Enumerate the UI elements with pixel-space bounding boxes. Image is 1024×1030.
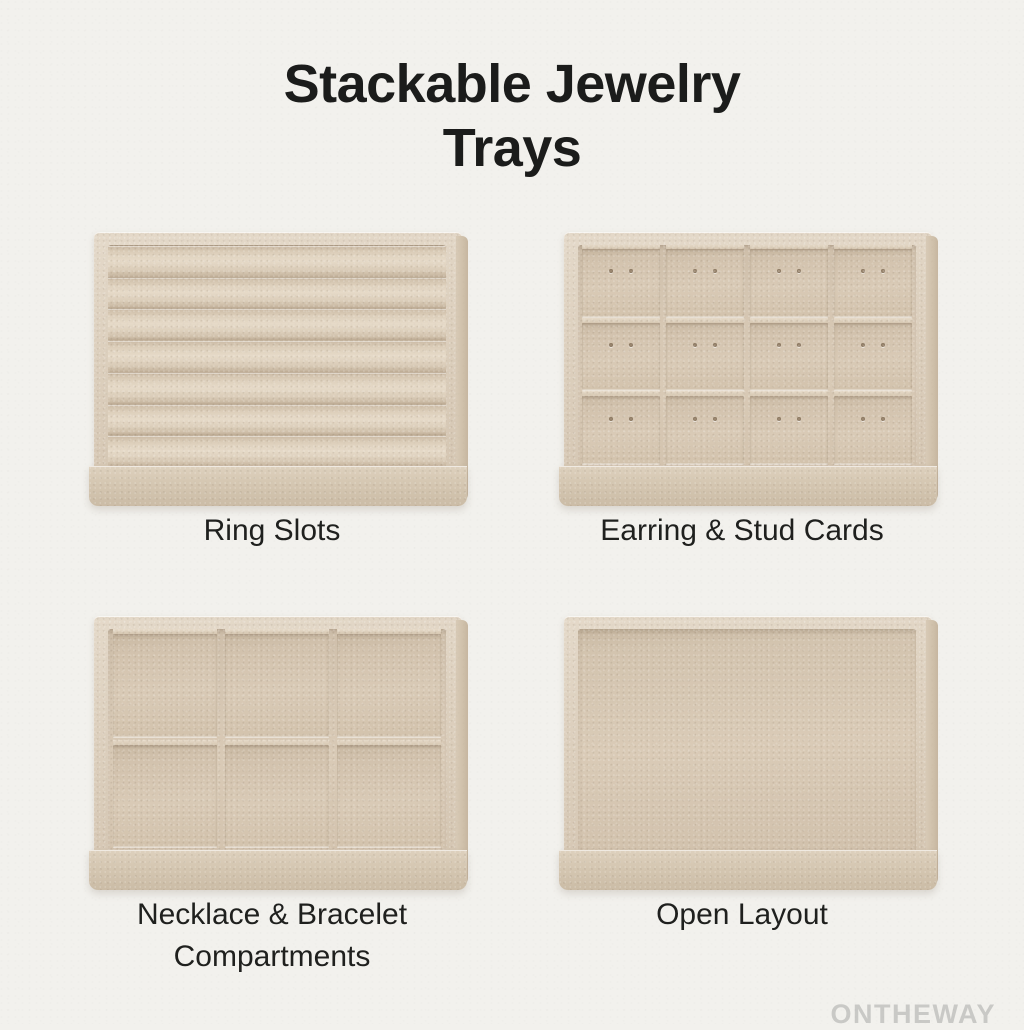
- stud-hole-pair: [834, 269, 912, 273]
- stud-hole: [797, 269, 801, 273]
- stud-hole-pair: [750, 343, 828, 347]
- earring-cell[interactable]: [750, 323, 828, 391]
- stud-hole: [609, 343, 613, 347]
- stud-hole-pair: [834, 343, 912, 347]
- tray-necklace-bracelet-compartments[interactable]: [94, 616, 462, 868]
- stud-hole: [693, 417, 697, 421]
- tray-rim: [564, 232, 932, 484]
- stud-hole: [629, 417, 633, 421]
- ring-roll-slot[interactable]: [108, 373, 446, 404]
- stud-hole: [713, 417, 717, 421]
- open-tray-floor[interactable]: [578, 629, 916, 852]
- ring-roll-slot[interactable]: [108, 436, 446, 467]
- tray-right-wall: [456, 236, 468, 502]
- tray-ring-slots[interactable]: [94, 232, 462, 484]
- compartment-cell[interactable]: [113, 634, 217, 737]
- earring-cell[interactable]: [834, 249, 912, 317]
- stud-hole: [629, 269, 633, 273]
- stud-hole: [777, 417, 781, 421]
- compartment-cell[interactable]: [225, 634, 329, 737]
- compartment-cell[interactable]: [337, 745, 441, 848]
- earring-cell[interactable]: [666, 323, 744, 391]
- tray-right-wall: [456, 620, 468, 886]
- tray-rim: [94, 616, 462, 868]
- earring-cell-grid: [578, 245, 916, 468]
- tray-front-wall: [559, 466, 937, 506]
- stud-hole: [609, 417, 613, 421]
- tray-right-wall: [926, 236, 938, 502]
- stud-hole: [713, 343, 717, 347]
- stud-hole-pair: [582, 343, 660, 347]
- compartment-cell[interactable]: [113, 745, 217, 848]
- caption-line: Compartments: [52, 936, 492, 978]
- stud-hole-pair: [582, 269, 660, 273]
- earring-cell[interactable]: [582, 323, 660, 391]
- ring-roll-slot[interactable]: [108, 246, 446, 277]
- stud-hole: [881, 417, 885, 421]
- ring-roll-slot[interactable]: [108, 309, 446, 340]
- ring-roll-slot[interactable]: [108, 405, 446, 436]
- stud-hole: [797, 343, 801, 347]
- stud-hole: [609, 269, 613, 273]
- tray-interior: [578, 245, 916, 468]
- ring-roll-slot[interactable]: [108, 278, 446, 309]
- stud-hole: [777, 343, 781, 347]
- tray-caption-earring-stud-cards: Earring & Stud Cards: [522, 510, 962, 552]
- caption-line: Necklace & Bracelet: [52, 894, 492, 936]
- caption-line: Ring Slots: [52, 510, 492, 552]
- stud-hole: [881, 343, 885, 347]
- stud-hole-pair: [750, 417, 828, 421]
- stud-hole: [861, 269, 865, 273]
- caption-line: Open Layout: [522, 894, 962, 936]
- stud-hole: [881, 269, 885, 273]
- stud-hole-pair: [834, 417, 912, 421]
- stud-hole-pair: [666, 343, 744, 347]
- tray-front-wall: [559, 850, 937, 890]
- stud-hole-pair: [666, 269, 744, 273]
- compartment-grid: [108, 629, 446, 852]
- ring-roll-slot[interactable]: [108, 341, 446, 372]
- earring-cell[interactable]: [750, 396, 828, 464]
- earring-cell[interactable]: [666, 249, 744, 317]
- stud-hole: [693, 343, 697, 347]
- stud-hole-pair: [666, 417, 744, 421]
- stud-hole: [713, 269, 717, 273]
- tray-card-ring-slots[interactable]: Ring Slots: [52, 218, 492, 508]
- stud-hole: [861, 343, 865, 347]
- tray-stage: [52, 602, 492, 892]
- tray-stage: [522, 602, 962, 892]
- stud-hole: [629, 343, 633, 347]
- tray-stage: [52, 218, 492, 508]
- page-title-line-1: Stackable Jewelry: [0, 52, 1024, 116]
- compartment-cell[interactable]: [225, 745, 329, 848]
- tray-interior: [108, 245, 446, 468]
- tray-front-wall: [89, 850, 467, 890]
- stud-hole: [797, 417, 801, 421]
- earring-cell[interactable]: [582, 249, 660, 317]
- tray-card-open-layout[interactable]: Open Layout: [522, 602, 962, 892]
- earring-cell[interactable]: [666, 396, 744, 464]
- tray-earring-stud-cards[interactable]: [564, 232, 932, 484]
- earring-cell[interactable]: [582, 396, 660, 464]
- page-title: Stackable Jewelry Trays: [0, 52, 1024, 180]
- stud-hole: [861, 417, 865, 421]
- tray-rim: [94, 232, 462, 484]
- earring-cell[interactable]: [750, 249, 828, 317]
- tray-right-wall: [926, 620, 938, 886]
- ring-roll-group: [108, 245, 446, 468]
- tray-front-wall: [89, 466, 467, 506]
- watermark: ONTHEWAY: [830, 999, 996, 1030]
- tray-interior: [578, 629, 916, 852]
- tray-rim: [564, 616, 932, 868]
- tray-interior: [108, 629, 446, 852]
- earring-cell[interactable]: [834, 323, 912, 391]
- tray-caption-ring-slots: Ring Slots: [52, 510, 492, 552]
- page-title-line-2: Trays: [0, 116, 1024, 180]
- earring-cell[interactable]: [834, 396, 912, 464]
- tray-caption-necklace-bracelet-compartments: Necklace & Bracelet Compartments: [52, 894, 492, 978]
- tray-card-earring-stud-cards[interactable]: Earring & Stud Cards: [522, 218, 962, 508]
- compartment-cell[interactable]: [337, 634, 441, 737]
- tray-caption-open-layout: Open Layout: [522, 894, 962, 936]
- caption-line: Earring & Stud Cards: [522, 510, 962, 552]
- stud-hole-pair: [750, 269, 828, 273]
- stud-hole: [777, 269, 781, 273]
- tray-card-necklace-bracelet-compartments[interactable]: Necklace & Bracelet Compartments: [52, 602, 492, 892]
- stud-hole: [693, 269, 697, 273]
- stud-hole-pair: [582, 417, 660, 421]
- tray-open-layout[interactable]: [564, 616, 932, 868]
- tray-stage: [522, 218, 962, 508]
